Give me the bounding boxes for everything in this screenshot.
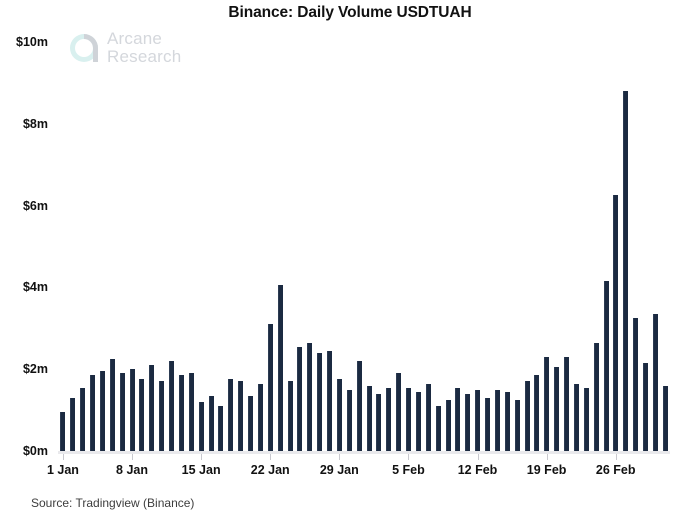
x-axis-tick-label: 1 Jan bbox=[47, 463, 79, 477]
bar[interactable] bbox=[604, 281, 609, 451]
bar-slot bbox=[394, 42, 404, 451]
x-axis-tick-label: 15 Jan bbox=[182, 463, 221, 477]
bar-slot bbox=[216, 42, 226, 451]
bar[interactable] bbox=[465, 394, 470, 451]
x-axis-tick bbox=[478, 454, 479, 460]
bar-slot bbox=[433, 42, 443, 451]
bar-slot bbox=[502, 42, 512, 451]
bar[interactable] bbox=[357, 361, 362, 451]
bar[interactable] bbox=[120, 373, 125, 451]
source-note: Source: Tradingview (Binance) bbox=[31, 496, 194, 510]
x-axis-tick bbox=[408, 454, 409, 460]
x-axis-tick bbox=[201, 454, 202, 460]
y-axis-tick-label: $6m bbox=[23, 199, 48, 213]
bar[interactable] bbox=[525, 381, 530, 451]
bar[interactable] bbox=[367, 386, 372, 451]
x-axis-labels: 1 Jan8 Jan15 Jan22 Jan29 Jan5 Feb12 Feb1… bbox=[58, 463, 670, 483]
bar[interactable] bbox=[199, 402, 204, 451]
bar-slot bbox=[335, 42, 345, 451]
page-title: Binance: Daily Volume USDTUAH bbox=[0, 4, 700, 22]
bar-slot bbox=[177, 42, 187, 451]
bar-slot bbox=[631, 42, 641, 451]
bar[interactable] bbox=[495, 390, 500, 451]
bar[interactable] bbox=[515, 400, 520, 451]
bar[interactable] bbox=[663, 386, 668, 451]
y-axis-tick-label: $10m bbox=[16, 35, 48, 49]
bar[interactable] bbox=[416, 392, 421, 451]
bar-slot bbox=[443, 42, 453, 451]
bar[interactable] bbox=[485, 398, 490, 451]
bar[interactable] bbox=[584, 388, 589, 451]
bar[interactable] bbox=[327, 351, 332, 451]
y-axis-tick-label: $0m bbox=[23, 444, 48, 458]
bar-slot bbox=[483, 42, 493, 451]
bar[interactable] bbox=[248, 396, 253, 451]
bar-slot bbox=[236, 42, 246, 451]
bar-slot bbox=[117, 42, 127, 451]
y-axis-tick-label: $4m bbox=[23, 280, 48, 294]
bar[interactable] bbox=[80, 388, 85, 451]
bar-slot bbox=[562, 42, 572, 451]
bar[interactable] bbox=[505, 392, 510, 451]
bar-slot bbox=[532, 42, 542, 451]
bar-slot bbox=[581, 42, 591, 451]
bar[interactable] bbox=[554, 367, 559, 451]
bar[interactable] bbox=[574, 384, 579, 451]
bar-slot bbox=[265, 42, 275, 451]
x-axis-tick bbox=[132, 454, 133, 460]
bar-slot bbox=[246, 42, 256, 451]
bar[interactable] bbox=[268, 324, 273, 451]
bar[interactable] bbox=[258, 384, 263, 451]
bar[interactable] bbox=[130, 369, 135, 451]
bar[interactable] bbox=[297, 347, 302, 451]
bar[interactable] bbox=[159, 381, 164, 451]
x-axis-tick-label: 12 Feb bbox=[458, 463, 498, 477]
bar-slot bbox=[493, 42, 503, 451]
bar-slot bbox=[275, 42, 285, 451]
bar-slot bbox=[78, 42, 88, 451]
bar-slot bbox=[660, 42, 670, 451]
bar[interactable] bbox=[455, 388, 460, 451]
bar-slot bbox=[423, 42, 433, 451]
bar-slot bbox=[137, 42, 147, 451]
bar-slot bbox=[473, 42, 483, 451]
bar-slot bbox=[88, 42, 98, 451]
x-axis-tick-label: 26 Feb bbox=[596, 463, 636, 477]
bar[interactable] bbox=[100, 371, 105, 451]
bar[interactable] bbox=[544, 357, 549, 451]
bar-slot bbox=[522, 42, 532, 451]
bar-slot bbox=[305, 42, 315, 451]
bar-slot bbox=[404, 42, 414, 451]
bar[interactable] bbox=[228, 379, 233, 451]
bar-slot bbox=[384, 42, 394, 451]
bar-slot bbox=[641, 42, 651, 451]
bar-slot bbox=[414, 42, 424, 451]
bar-slot bbox=[127, 42, 137, 451]
bar[interactable] bbox=[475, 390, 480, 451]
bar-slot bbox=[374, 42, 384, 451]
bar[interactable] bbox=[209, 396, 214, 451]
bar-slot bbox=[621, 42, 631, 451]
bar[interactable] bbox=[446, 400, 451, 451]
x-axis-tick bbox=[270, 454, 271, 460]
bar[interactable] bbox=[347, 390, 352, 451]
bar-slot bbox=[196, 42, 206, 451]
bar[interactable] bbox=[218, 406, 223, 451]
bar-slot bbox=[107, 42, 117, 451]
bar-slot bbox=[542, 42, 552, 451]
bar[interactable] bbox=[238, 381, 243, 451]
bar[interactable] bbox=[189, 373, 194, 451]
bar[interactable] bbox=[376, 394, 381, 451]
bar[interactable] bbox=[386, 388, 391, 451]
bar-slot bbox=[344, 42, 354, 451]
bar[interactable] bbox=[169, 361, 174, 451]
bar[interactable] bbox=[110, 359, 115, 451]
bar[interactable] bbox=[643, 363, 648, 451]
bar[interactable] bbox=[179, 375, 184, 451]
x-axis-tick bbox=[547, 454, 548, 460]
bar-slot bbox=[186, 42, 196, 451]
bar[interactable] bbox=[594, 343, 599, 451]
x-axis-tick-label: 5 Feb bbox=[392, 463, 425, 477]
x-axis-tick-label: 8 Jan bbox=[116, 463, 148, 477]
y-axis-tick-label: $2m bbox=[23, 362, 48, 376]
bar-slot bbox=[453, 42, 463, 451]
bar-slot bbox=[98, 42, 108, 451]
x-axis-tick-label: 29 Jan bbox=[320, 463, 359, 477]
bar[interactable] bbox=[534, 375, 539, 451]
bar-slot bbox=[68, 42, 78, 451]
bar[interactable] bbox=[406, 388, 411, 451]
bar-slot bbox=[295, 42, 305, 451]
bar-slot bbox=[226, 42, 236, 451]
bar[interactable] bbox=[288, 381, 293, 451]
x-axis-tick bbox=[616, 454, 617, 460]
bar[interactable] bbox=[307, 343, 312, 451]
bar-slot bbox=[315, 42, 325, 451]
bar-slot bbox=[651, 42, 661, 451]
bar[interactable] bbox=[396, 373, 401, 451]
bar[interactable] bbox=[90, 375, 95, 451]
bar-slot bbox=[167, 42, 177, 451]
bar-slot bbox=[354, 42, 364, 451]
bar[interactable] bbox=[60, 412, 65, 451]
bar-slot bbox=[325, 42, 335, 451]
chart-container: Binance: Daily Volume USDTUAH Arcane Res… bbox=[0, 0, 700, 527]
bar[interactable] bbox=[70, 398, 75, 451]
x-axis-tick-label: 19 Feb bbox=[527, 463, 567, 477]
bar[interactable] bbox=[653, 314, 658, 451]
bar[interactable] bbox=[278, 285, 283, 451]
plot-area bbox=[58, 42, 670, 454]
bar[interactable] bbox=[317, 353, 322, 451]
bar[interactable] bbox=[633, 318, 638, 451]
bar-slot bbox=[611, 42, 621, 451]
bar-slot bbox=[364, 42, 374, 451]
bar-slot bbox=[58, 42, 68, 451]
x-axis-tick bbox=[63, 454, 64, 460]
x-axis-ticks bbox=[58, 454, 670, 461]
bar-slot bbox=[463, 42, 473, 451]
bar-slot bbox=[572, 42, 582, 451]
bar[interactable] bbox=[436, 406, 441, 451]
y-axis-tick-label: $8m bbox=[23, 117, 48, 131]
bar[interactable] bbox=[623, 91, 628, 451]
bar-slot bbox=[552, 42, 562, 451]
x-axis-tick bbox=[339, 454, 340, 460]
bar-slot bbox=[601, 42, 611, 451]
bar-slot bbox=[256, 42, 266, 451]
bar-slot bbox=[206, 42, 216, 451]
bar-slot bbox=[512, 42, 522, 451]
bar-slot bbox=[147, 42, 157, 451]
bar[interactable] bbox=[564, 357, 569, 451]
bar[interactable] bbox=[613, 195, 618, 451]
bar-slot bbox=[157, 42, 167, 451]
bar-slot bbox=[285, 42, 295, 451]
bar-series bbox=[58, 42, 670, 451]
x-axis-tick-label: 22 Jan bbox=[251, 463, 290, 477]
bar[interactable] bbox=[139, 379, 144, 451]
bar[interactable] bbox=[426, 384, 431, 451]
y-axis: $0m$2m$4m$6m$8m$10m bbox=[0, 0, 58, 527]
bar[interactable] bbox=[149, 365, 154, 451]
bar-slot bbox=[591, 42, 601, 451]
bar[interactable] bbox=[337, 379, 342, 451]
